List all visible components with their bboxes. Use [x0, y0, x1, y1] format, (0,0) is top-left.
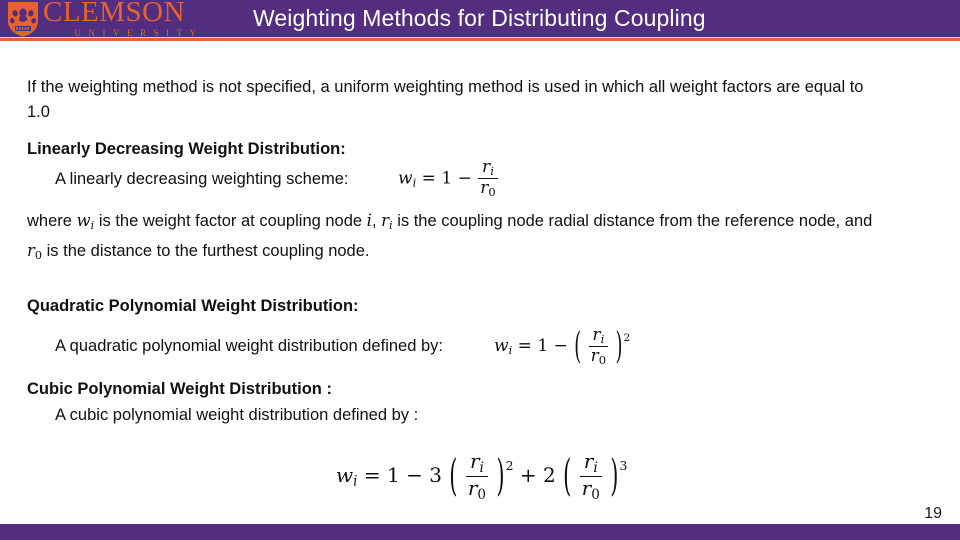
clemson-logo: CLEMSON UNIVERSITY [0, 0, 231, 37]
math-fraction-denominator: r0 [589, 347, 609, 366]
where-var-ri: ri [381, 211, 392, 230]
math-fraction-denominator: r0 [478, 179, 498, 198]
math-sub-0: 0 [591, 487, 600, 503]
lead-in-quadratic-polynomial: A quadratic polynomial weight distributi… [55, 334, 443, 359]
math-sub-i: i [601, 332, 605, 346]
math-var-r: r [591, 346, 599, 366]
page-number: 19 [924, 505, 942, 523]
math-sub-i: i [490, 164, 494, 178]
formula-cubic-polynomial: wi = 1 − 3 ( ri r0 )2 + 2 ( ri r0 )3 [336, 451, 627, 502]
math-var-r: r [27, 241, 35, 260]
math-equals: = [422, 168, 436, 188]
logo-clemson-text: CLEMSON [43, 0, 231, 27]
math-left-paren: ( [449, 451, 457, 502]
math-fraction-ri-r0: ri r0 [478, 159, 498, 199]
math-exponent-3: 3 [619, 458, 627, 473]
math-one: 1 [537, 336, 548, 356]
math-one: 1 [441, 168, 452, 188]
math-var-r: r [381, 211, 389, 230]
heading-quadratic-polynomial: Quadratic Polynomial Weight Distribution… [27, 294, 359, 319]
math-sub-0: 0 [599, 353, 606, 367]
math-fraction-numerator: ri [580, 451, 602, 477]
math-plus: + [520, 463, 537, 487]
math-var-r: r [592, 325, 600, 345]
math-var-w: w [336, 463, 353, 487]
slide-header: CLEMSON UNIVERSITY Weighting Methods for… [0, 0, 960, 37]
math-equals: = [518, 336, 532, 356]
math-var-r: r [582, 476, 592, 500]
math-fraction-numerator: ri [466, 451, 488, 477]
formula-quadratic-polynomial: wi = 1 − ( ri r0 )2 [494, 326, 630, 366]
math-sub-i: i [480, 460, 484, 476]
math-var-r: r [468, 476, 478, 500]
math-sub-0: 0 [488, 185, 495, 199]
where-text-part4: is the coupling node radial distance fro… [393, 212, 873, 230]
math-exponent-2: 2 [506, 458, 514, 473]
where-var-r0: r0 [27, 241, 42, 260]
slide-body: If the weighting method is not specified… [0, 41, 960, 501]
math-fraction-ri-r0: ri r0 [589, 327, 609, 367]
math-two: 2 [543, 463, 556, 487]
math-right-paren: ) [616, 321, 623, 372]
math-fraction-ri-r0: ri r0 [466, 451, 488, 502]
math-sub-i: i [509, 343, 513, 357]
math-fraction-numerator: ri [478, 159, 498, 179]
where-text-part3: , [372, 212, 381, 230]
math-var-r: r [482, 157, 490, 177]
logo-university-text: UNIVERSITY [43, 28, 231, 38]
math-left-paren: ( [574, 321, 581, 372]
math-var-r: r [584, 449, 594, 473]
formula-linear-decreasing: wi = 1 − ri r0 [398, 159, 499, 199]
math-sub-0: 0 [35, 249, 42, 262]
heading-cubic-polynomial: Cubic Polynomial Weight Distribution : [27, 377, 332, 402]
math-three: 3 [429, 463, 442, 487]
math-minus: − [554, 336, 568, 356]
where-text-part2: is the weight factor at coupling node [94, 212, 366, 230]
math-sub-i: i [353, 474, 357, 490]
where-text-part5: is the distance to the furthest coupling… [42, 242, 369, 260]
math-sub-i: i [413, 175, 417, 189]
slide-title: Weighting Methods for Distributing Coupl… [253, 5, 706, 32]
math-left-paren: ( [563, 451, 571, 502]
where-var-w: wi [77, 211, 95, 230]
clemson-tiger-paw-shield-icon [6, 1, 40, 37]
where-clause-paragraph: where wi is the weight factor at couplin… [27, 208, 889, 268]
slide-footer-bar [0, 524, 960, 540]
math-fraction-ri-r0: ri r0 [580, 451, 602, 502]
math-sub-i: i [593, 460, 597, 476]
math-right-paren: ) [496, 451, 504, 502]
math-var-w: w [494, 336, 509, 356]
math-var-w: w [77, 211, 91, 230]
math-sub-0: 0 [477, 487, 486, 503]
heading-linear-decreasing: Linearly Decreasing Weight Distribution: [27, 137, 346, 162]
math-minus: − [458, 168, 472, 188]
where-text-part1: where [27, 212, 77, 230]
clemson-wordmark: CLEMSON UNIVERSITY [43, 0, 231, 40]
math-var-r: r [470, 449, 480, 473]
intro-paragraph: If the weighting method is not specified… [27, 75, 882, 125]
lead-in-linear-decreasing: A linearly decreasing weighting scheme: [55, 167, 349, 192]
math-minus: − [406, 463, 423, 487]
math-one: 1 [387, 463, 400, 487]
math-fraction-denominator: r0 [580, 477, 602, 502]
math-var-w: w [398, 168, 413, 188]
math-fraction-denominator: r0 [466, 477, 488, 502]
math-right-paren: ) [610, 451, 618, 502]
lead-in-cubic-polynomial: A cubic polynomial weight distribution d… [55, 403, 418, 428]
math-exponent-2: 2 [623, 332, 630, 344]
math-fraction-numerator: ri [589, 327, 609, 347]
math-equals: = [364, 463, 381, 487]
